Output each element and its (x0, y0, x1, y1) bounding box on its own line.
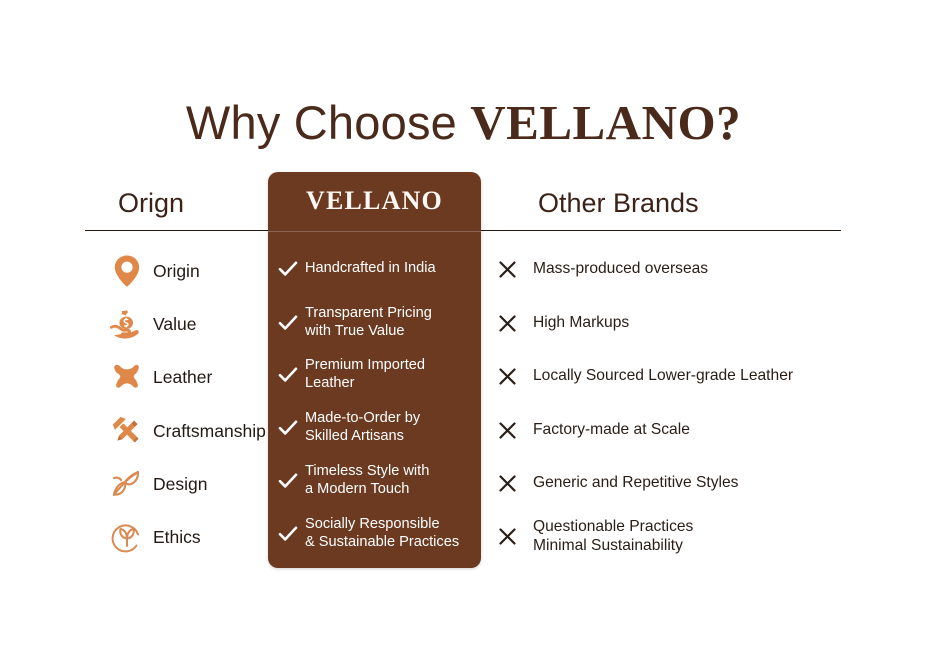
feature-label-ethics: Ethics (153, 527, 201, 547)
vellano-point-text-3: Premium Imported Leather (305, 357, 425, 392)
vellano-point-line1-5: Timeless Style with (305, 463, 429, 479)
feature-row-ethics: Ethics (110, 520, 275, 554)
vellano-point-text-5: Timeless Style with a Modern Touch (305, 463, 429, 498)
check-icon (278, 471, 298, 491)
other-brand-text-4: Factory-made at Scale (533, 421, 690, 440)
feature-row-design: Design (110, 467, 275, 501)
vellano-point-text-6: Socially Responsible & Sustainable Pract… (305, 516, 459, 551)
vellano-point-line2-2: with True Value (305, 323, 405, 339)
vellano-point-line2-6: & Sustainable Practices (305, 534, 459, 550)
comparison-infographic: Why Choose VELLANO? VELLANO Orign Other … (0, 0, 927, 660)
cross-icon (498, 314, 517, 333)
other-brand-line1-3: Locally Sourced Lower-grade Leather (533, 367, 793, 384)
other-brand-text-5: Generic and Repetitive Styles (533, 474, 738, 493)
page-title-brand: VELLANO? (470, 95, 741, 150)
vellano-point-row-3: Premium Imported Leather (278, 357, 478, 392)
check-icon (278, 418, 298, 438)
cross-icon (498, 474, 517, 493)
left-column-header: Orign (118, 187, 184, 219)
feature-label-craftsmanship: Craftsmanship (153, 421, 266, 441)
other-brand-line1-1: Mass-produced overseas (533, 260, 708, 277)
vellano-point-line1-4: Made-to-Order by (305, 410, 420, 426)
other-brand-text-3: Locally Sourced Lower-grade Leather (533, 367, 793, 386)
other-brand-row-3: Locally Sourced Lower-grade Leather (498, 367, 898, 386)
feature-row-origin: Origin (110, 254, 275, 288)
other-brand-text-2: High Markups (533, 314, 629, 333)
hand-holding-money-icon (110, 307, 144, 341)
cross-icon (498, 367, 517, 386)
other-brand-line2-6: Minimal Sustainability (533, 537, 683, 554)
right-column-header: Other Brands (538, 187, 699, 219)
vellano-column-header: VELLANO (268, 172, 481, 230)
feature-row-value: Value (110, 307, 275, 341)
other-brand-row-4: Factory-made at Scale (498, 421, 898, 440)
page-title-sans: Why Choose (186, 96, 470, 149)
feature-row-craftsmanship: Craftsmanship (110, 414, 275, 448)
check-icon (278, 259, 298, 279)
check-icon (278, 313, 298, 333)
vellano-point-row-5: Timeless Style with a Modern Touch (278, 463, 478, 498)
hammer-pencil-icon (110, 414, 144, 448)
vellano-point-line2-4: Skilled Artisans (305, 428, 404, 444)
feature-label-value: Value (153, 314, 196, 334)
vellano-point-text-1: Handcrafted in India (305, 260, 436, 278)
page-title: Why Choose VELLANO? (0, 96, 927, 150)
other-brand-row-2: High Markups (498, 314, 898, 333)
vellano-header-divider (268, 231, 481, 232)
vellano-point-line1-1: Handcrafted in India (305, 260, 436, 276)
other-brand-text-1: Mass-produced overseas (533, 260, 708, 279)
leather-hide-icon (110, 360, 144, 394)
other-brand-line1-6: Questionable Practices (533, 518, 693, 535)
check-icon (278, 365, 298, 385)
vellano-point-row-6: Socially Responsible & Sustainable Pract… (278, 516, 478, 551)
other-brand-line1-5: Generic and Repetitive Styles (533, 474, 738, 491)
feature-label-leather: Leather (153, 367, 212, 387)
other-brand-line1-2: High Markups (533, 314, 629, 331)
cross-icon (498, 421, 517, 440)
other-brand-text-6: Questionable Practices Minimal Sustainab… (533, 518, 693, 555)
other-brand-line1-4: Factory-made at Scale (533, 421, 690, 438)
vellano-point-row-4: Made-to-Order by Skilled Artisans (278, 410, 478, 445)
feature-row-leather: Leather (110, 360, 275, 394)
other-brand-row-5: Generic and Repetitive Styles (498, 474, 898, 493)
other-brand-row-6: Questionable Practices Minimal Sustainab… (498, 518, 898, 555)
vellano-point-text-4: Made-to-Order by Skilled Artisans (305, 410, 420, 445)
cross-icon (498, 260, 517, 279)
vellano-column-header-label: VELLANO (306, 186, 443, 216)
vellano-point-line1-6: Socially Responsible (305, 516, 440, 532)
location-pin-icon (110, 254, 144, 288)
vellano-point-row-1: Handcrafted in India (278, 259, 478, 279)
vellano-point-line2-3: Leather (305, 375, 355, 391)
sprout-circle-icon (110, 520, 144, 554)
feature-label-design: Design (153, 474, 207, 494)
other-brand-row-1: Mass-produced overseas (498, 260, 898, 279)
vellano-point-row-2: Transparent Pricing with True Value (278, 305, 478, 340)
feature-label-origin: Origin (153, 261, 200, 281)
vellano-point-line2-5: a Modern Touch (305, 481, 409, 497)
vellano-point-text-2: Transparent Pricing with True Value (305, 305, 432, 340)
cross-icon (498, 527, 517, 546)
check-icon (278, 524, 298, 544)
leaf-branch-icon (110, 467, 144, 501)
vellano-point-line1-2: Transparent Pricing (305, 305, 432, 321)
vellano-point-line1-3: Premium Imported (305, 357, 425, 373)
